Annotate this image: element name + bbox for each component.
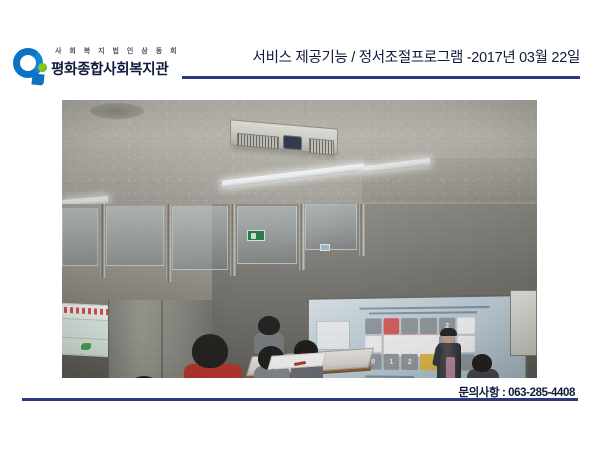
classroom-interior: 2 1 0 1 2 2 — [62, 204, 537, 378]
glass-partition-panel — [172, 206, 228, 270]
screen-grid-cell — [401, 336, 417, 352]
title-divider — [182, 76, 580, 79]
presenter-shirt — [446, 357, 455, 378]
glass-partition-panel — [106, 206, 164, 266]
screen-grid-cell: 2 — [401, 354, 417, 370]
partition-post — [299, 204, 305, 270]
logo-mark-icon — [13, 48, 49, 84]
organization-name: 평화종합사회복지관 — [51, 58, 168, 79]
poster-body-band — [62, 318, 112, 341]
photo-frame: 2 1 0 1 2 2 — [62, 100, 537, 378]
ceiling — [62, 100, 537, 212]
presenter-figure — [434, 330, 464, 378]
screen-grid-cell — [365, 318, 381, 334]
partition-post — [359, 204, 365, 256]
child-head — [472, 354, 492, 372]
screen-side-panel — [316, 321, 350, 350]
child-head — [192, 334, 228, 368]
glass-partition-panel — [62, 208, 98, 266]
logo-ring-shape — [13, 48, 43, 78]
screen-text-line — [365, 375, 414, 378]
child-head — [258, 316, 280, 335]
poster-header-band — [64, 307, 108, 315]
glass-partition-panel — [305, 204, 357, 250]
cabinet-door-seam — [161, 300, 163, 378]
partition-post — [166, 204, 172, 282]
projector-grill — [309, 138, 334, 155]
slide-header: 사 회 복 지 법 인 삼 동 회 평화종합사회복지관 서비스 제공기능 / 정… — [0, 0, 600, 92]
presentation-slide: 사 회 복 지 법 인 삼 동 회 평화종합사회복지관 서비스 제공기능 / 정… — [0, 0, 600, 462]
glass-partition-panel — [237, 206, 297, 264]
page-title: 서비스 제공기능 / 정서조절프로그램 -2017년 03월 22일 — [253, 46, 580, 67]
organization-sub-name: 사 회 복 지 법 인 삼 동 회 — [55, 46, 180, 56]
partition-post — [100, 204, 106, 278]
presenter-cap — [440, 328, 457, 336]
screen-grid-cell — [401, 318, 417, 334]
poster-leaf-icon — [81, 343, 91, 351]
projector-lens-icon — [283, 135, 302, 151]
classroom-photo: 2 1 0 1 2 2 — [62, 100, 537, 378]
screen-grid-cell: 1 — [383, 354, 399, 370]
wall-poster — [62, 303, 112, 358]
whiteboard — [510, 290, 537, 356]
screen-text-line — [359, 306, 489, 310]
organization-logo: 사 회 복 지 법 인 삼 동 회 평화종합사회복지관 — [13, 46, 183, 92]
footer-divider — [22, 398, 578, 401]
screen-grid-cell — [383, 318, 399, 334]
wall-sign-icon — [320, 244, 330, 251]
emergency-exit-sign-icon — [247, 230, 265, 241]
partition-post — [230, 204, 236, 276]
logo-green-dot-icon — [38, 63, 47, 72]
screen-text-line — [369, 311, 477, 314]
screen-grid-cell — [383, 336, 399, 352]
ceiling-vent — [90, 103, 144, 119]
